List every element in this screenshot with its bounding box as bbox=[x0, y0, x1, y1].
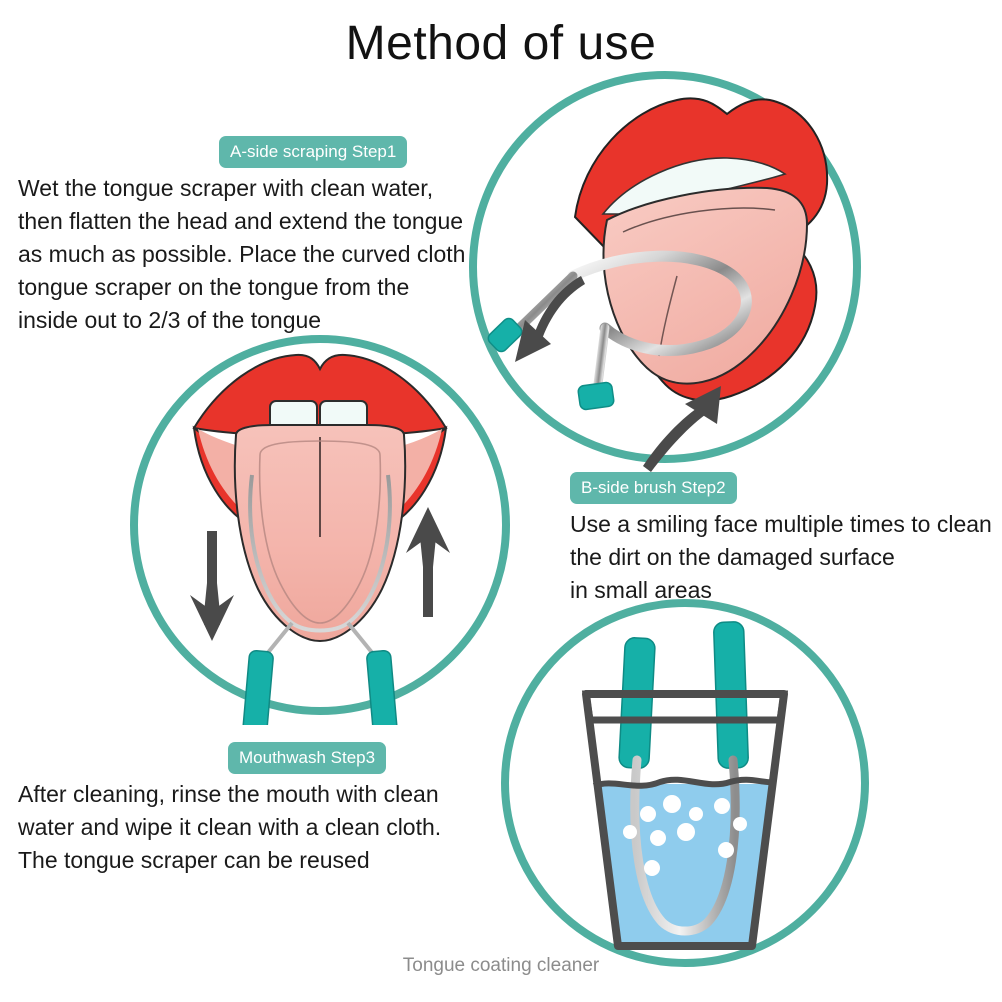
arrow-down bbox=[190, 531, 234, 641]
step-badge-2: B-side brush Step2 bbox=[570, 472, 737, 504]
step-body-1: Wet the tongue scraper with clean water,… bbox=[18, 172, 488, 337]
scraper-arm-right bbox=[348, 623, 374, 655]
step-body-3: After cleaning, rinse the mouth with cle… bbox=[18, 778, 468, 877]
step-badge-3: Mouthwash Step3 bbox=[228, 742, 386, 774]
scraper-arm-left bbox=[266, 623, 292, 655]
scraper-handle-lower bbox=[577, 382, 614, 410]
step-badge-1: A-side scraping Step1 bbox=[219, 136, 407, 168]
illustration-step3-mouthwash bbox=[490, 588, 880, 978]
scraper-handle-right bbox=[366, 650, 397, 725]
scraper-handle-left bbox=[242, 650, 273, 725]
infographic-page: Method of use bbox=[0, 0, 1002, 1002]
scraper-handle-left bbox=[619, 637, 656, 768]
illustration-step2-brush bbox=[120, 325, 520, 725]
arrow-up bbox=[406, 507, 450, 617]
footer-caption: Tongue coating cleaner bbox=[0, 955, 1002, 977]
step-body-2: Use a smiling face multiple times to cle… bbox=[570, 508, 1000, 607]
